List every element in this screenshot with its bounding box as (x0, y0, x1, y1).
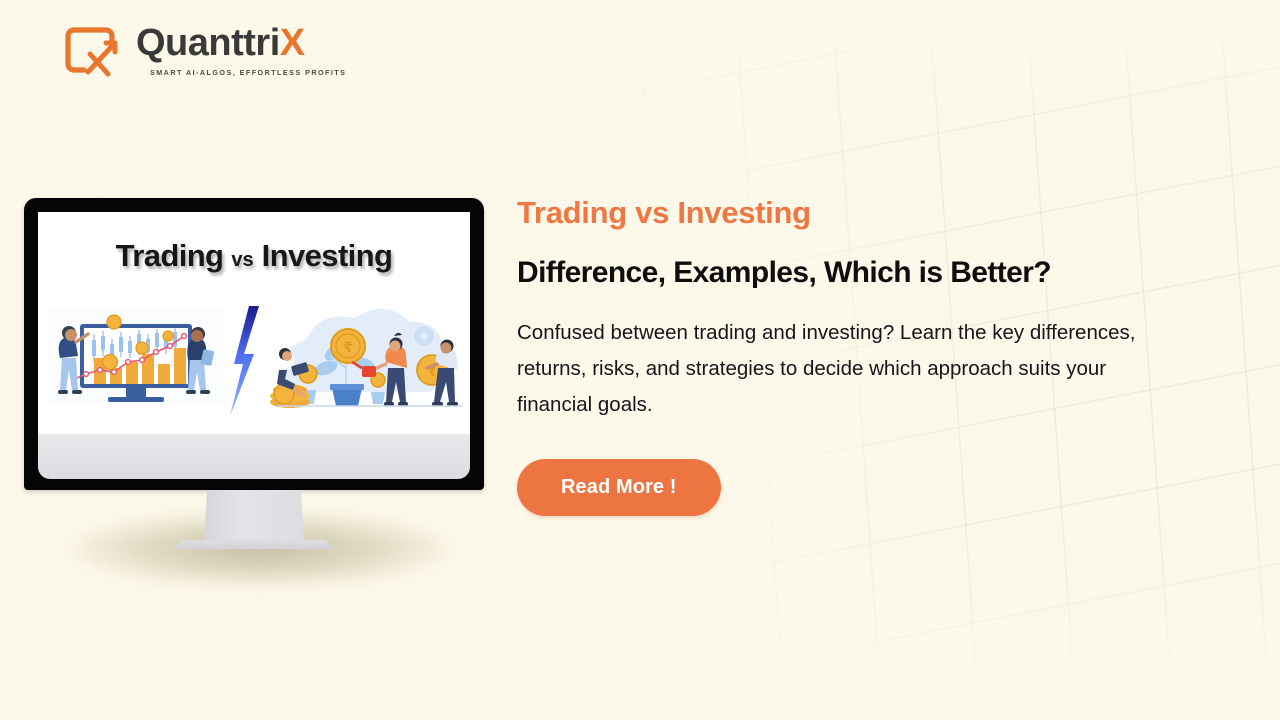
investing-illustration: ₹ (270, 309, 462, 408)
monitor-screen: Trading vs Investing (38, 212, 470, 434)
brand-name-dark: Quanttri (136, 22, 280, 64)
brand-logo[interactable]: QuanttriX SMART AI-ALGOS, EFFORTLESS PRO… (60, 20, 346, 80)
screen-title-part2: Investing (262, 238, 393, 273)
trading-illustration (48, 310, 224, 404)
copy-block: Trading vs Investing Difference, Example… (517, 196, 1207, 516)
monitor-bezel: Trading vs Investing (24, 198, 484, 490)
body-paragraph: Confused between trading and investing? … (517, 315, 1177, 423)
brand-tagline: SMART AI-ALGOS, EFFORTLESS PROFITS (150, 68, 346, 77)
monitor-stand-foot (174, 540, 334, 549)
screen-title: Trading vs Investing (38, 238, 470, 274)
brand-name-accent: X (280, 22, 305, 64)
monitor-chin (38, 434, 470, 479)
monitor-mockup: Trading vs Investing (24, 198, 484, 549)
promo-banner: QuanttriX SMART AI-ALGOS, EFFORTLESS PRO… (0, 0, 1280, 720)
screen-title-part1: Trading (116, 238, 224, 273)
quanttrix-bracket-arrow-logo-icon (60, 20, 124, 80)
lightning-bolt-divider (230, 306, 259, 416)
eyebrow-heading: Trading vs Investing (517, 196, 1207, 230)
brand-wordmark: QuanttriX (136, 24, 346, 62)
screen-title-vs: vs (231, 249, 253, 271)
screen-illustration: ₹ (38, 306, 470, 416)
monitor-stand-neck (204, 490, 304, 542)
svg-text:₹: ₹ (343, 340, 353, 356)
subheading: Difference, Examples, Which is Better? (517, 256, 1207, 291)
read-more-button[interactable]: Read More ! (517, 459, 721, 516)
